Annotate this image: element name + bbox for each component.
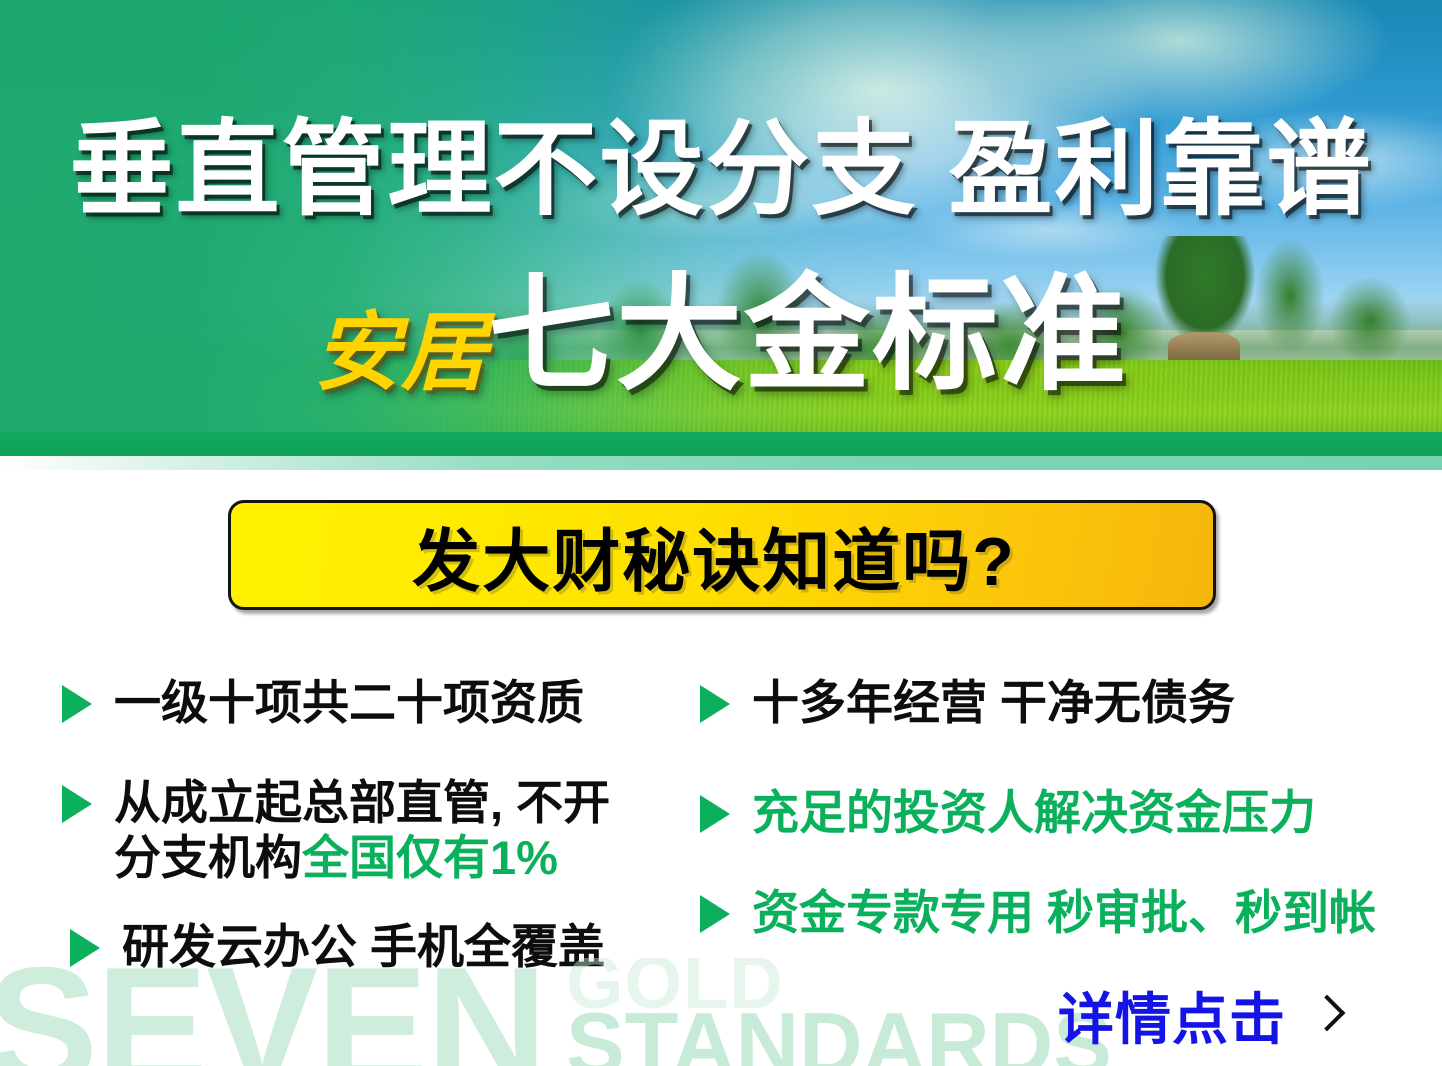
feature-text-right-3: 资金专款专用 秒审批、秒到帐 (752, 886, 1376, 941)
highlight-banner-text: 发大财秘诀知道吗? (412, 506, 1016, 605)
hero-subheadline-gold: 安居 (314, 305, 488, 401)
details-cta-button[interactable]: 详情点击 (1058, 975, 1338, 1056)
hero-banner: 垂直管理不设分支 盈利靠谱 安居七大金标准 (0, 0, 1442, 470)
triangle-bullet-icon (62, 685, 92, 723)
feature-text-right-1: 十多年经营 干净无债务 (752, 676, 1235, 731)
feature-text-left-1: 一级十项共二十项资质 (114, 676, 584, 731)
triangle-bullet-icon (62, 785, 92, 823)
hero-subheadline: 安居七大金标准 (0, 272, 1442, 398)
triangle-bullet-icon (70, 929, 100, 967)
feature-item-left-3: 研发云办公 手机全覆盖 (70, 920, 605, 975)
hero-subheadline-white: 七大金标准 (488, 264, 1128, 405)
features-section: 一级十项共二十项资质 从成立起总部直管, 不开 分支机构全国仅有1% 研发云办公… (0, 668, 1442, 968)
feature-text-left-3: 研发云办公 手机全覆盖 (122, 920, 605, 975)
hero-headline: 垂直管理不设分支 盈利靠谱 (0, 118, 1442, 222)
feature-item-right-2: 充足的投资人解决资金压力 (700, 786, 1316, 841)
triangle-bullet-icon (700, 895, 730, 933)
feature-item-right-1: 十多年经营 干净无债务 (700, 676, 1235, 731)
hero-fade-strip (0, 456, 1442, 470)
feature-item-left-1: 一级十项共二十项资质 (62, 676, 584, 731)
feature-item-left-2: 从成立起总部直管, 不开 分支机构全国仅有1% (62, 776, 610, 885)
feature-text-left-2-highlight: 全国仅有1% (302, 831, 558, 884)
feature-text-left-2: 从成立起总部直管, 不开 分支机构全国仅有1% (114, 776, 610, 885)
highlight-banner[interactable]: 发大财秘诀知道吗? (228, 500, 1216, 610)
details-cta-label: 详情点击 (1058, 975, 1286, 1056)
feature-item-right-3: 资金专款专用 秒审批、秒到帐 (700, 886, 1376, 941)
chevron-right-icon (1312, 994, 1338, 1038)
triangle-bullet-icon (700, 795, 730, 833)
triangle-bullet-icon (700, 685, 730, 723)
hero-bottom-bar (0, 432, 1442, 456)
watermark-standards: STANDARDS (566, 1000, 1112, 1066)
feature-text-right-2: 充足的投资人解决资金压力 (752, 786, 1316, 841)
feature-text-left-2-line1: 从成立起总部直管, 不开 (114, 776, 610, 829)
feature-text-left-2-line2-plain: 分支机构 (114, 831, 302, 884)
